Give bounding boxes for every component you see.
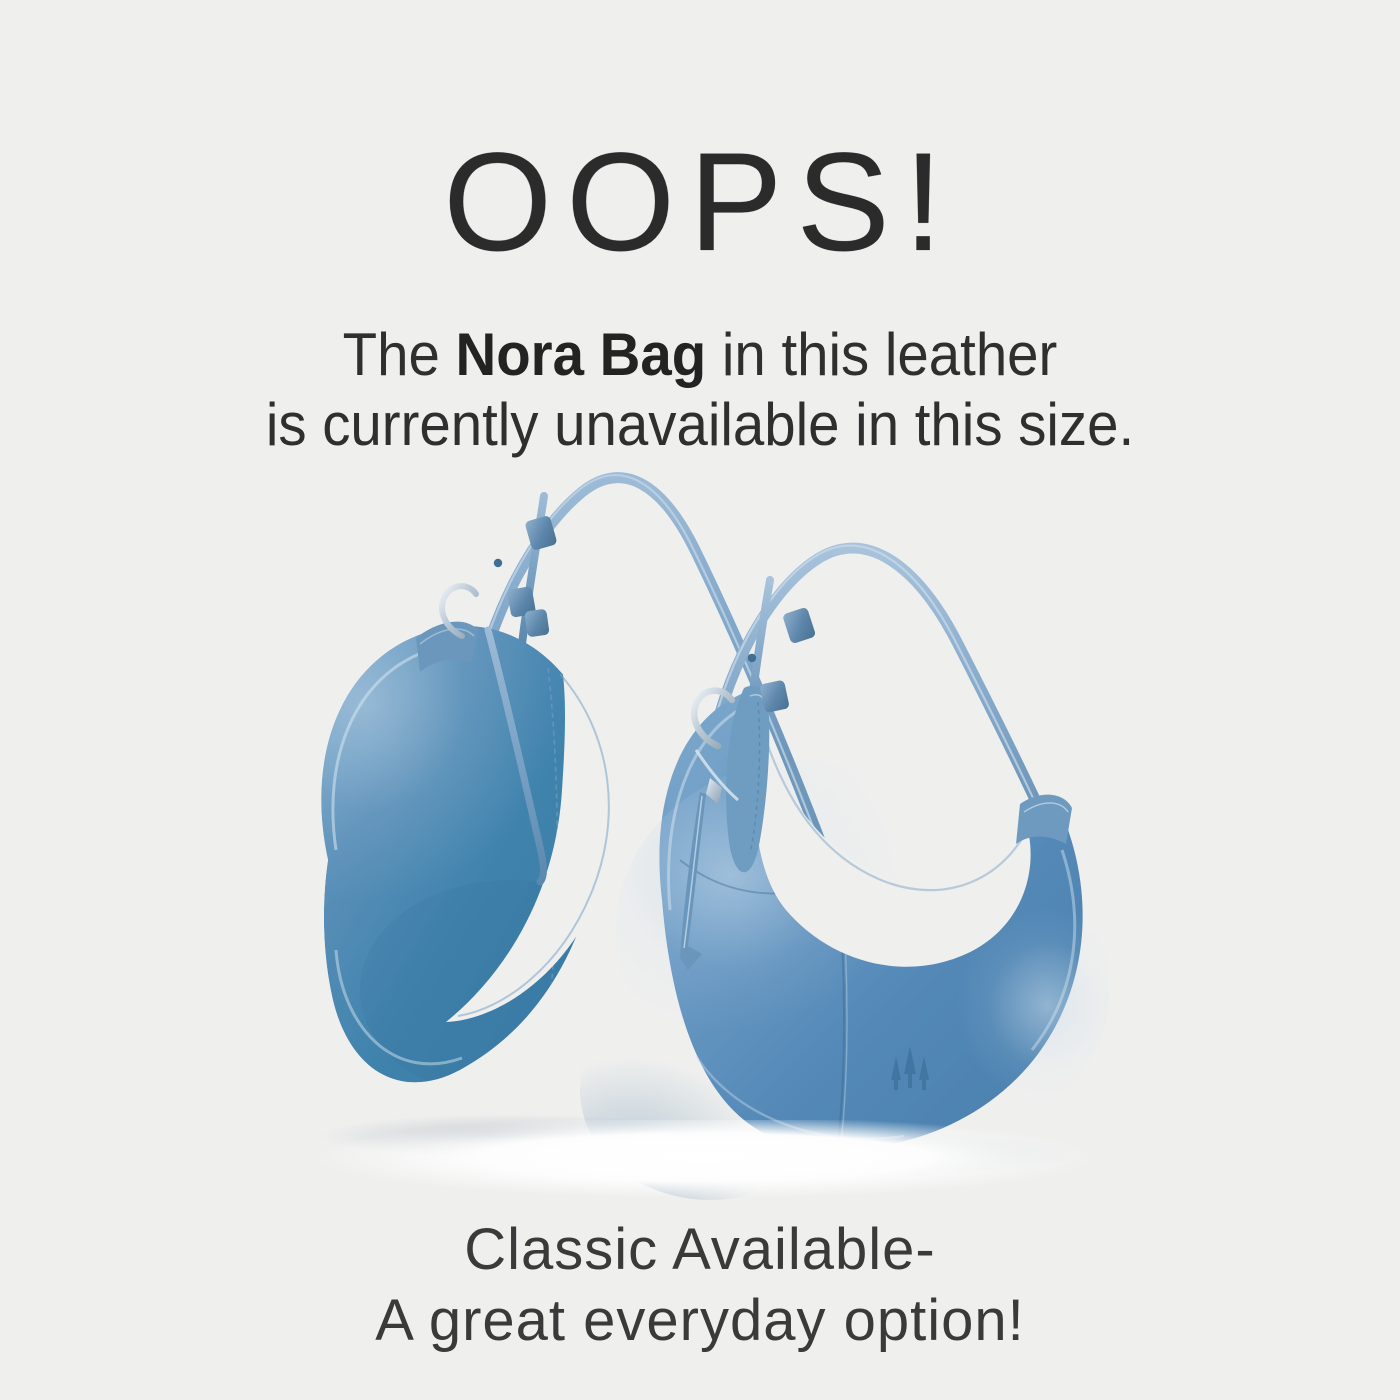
caption-line-2: A great everyday option! xyxy=(0,1286,1400,1357)
bag-back-adjuster-keeper xyxy=(524,609,549,638)
caption-line-1: Classic Available- xyxy=(0,1215,1400,1286)
promo-card: OOPS! The Nora Bag in this leather is cu… xyxy=(0,0,1400,1400)
page-title: OOPS! xyxy=(0,132,1400,272)
bags-illustration xyxy=(210,430,1200,1210)
bag-front-strap-tab xyxy=(1016,795,1072,844)
message-suffix: in this leather xyxy=(706,321,1057,388)
bag-front xyxy=(580,546,1110,1200)
availability-caption: Classic Available- A great everyday opti… xyxy=(0,1215,1400,1357)
product-image xyxy=(210,430,1200,1210)
availability-message-line-1: The Nora Bag in this leather xyxy=(42,320,1358,390)
message-prefix: The xyxy=(343,321,456,388)
product-name: Nora Bag xyxy=(455,321,706,388)
